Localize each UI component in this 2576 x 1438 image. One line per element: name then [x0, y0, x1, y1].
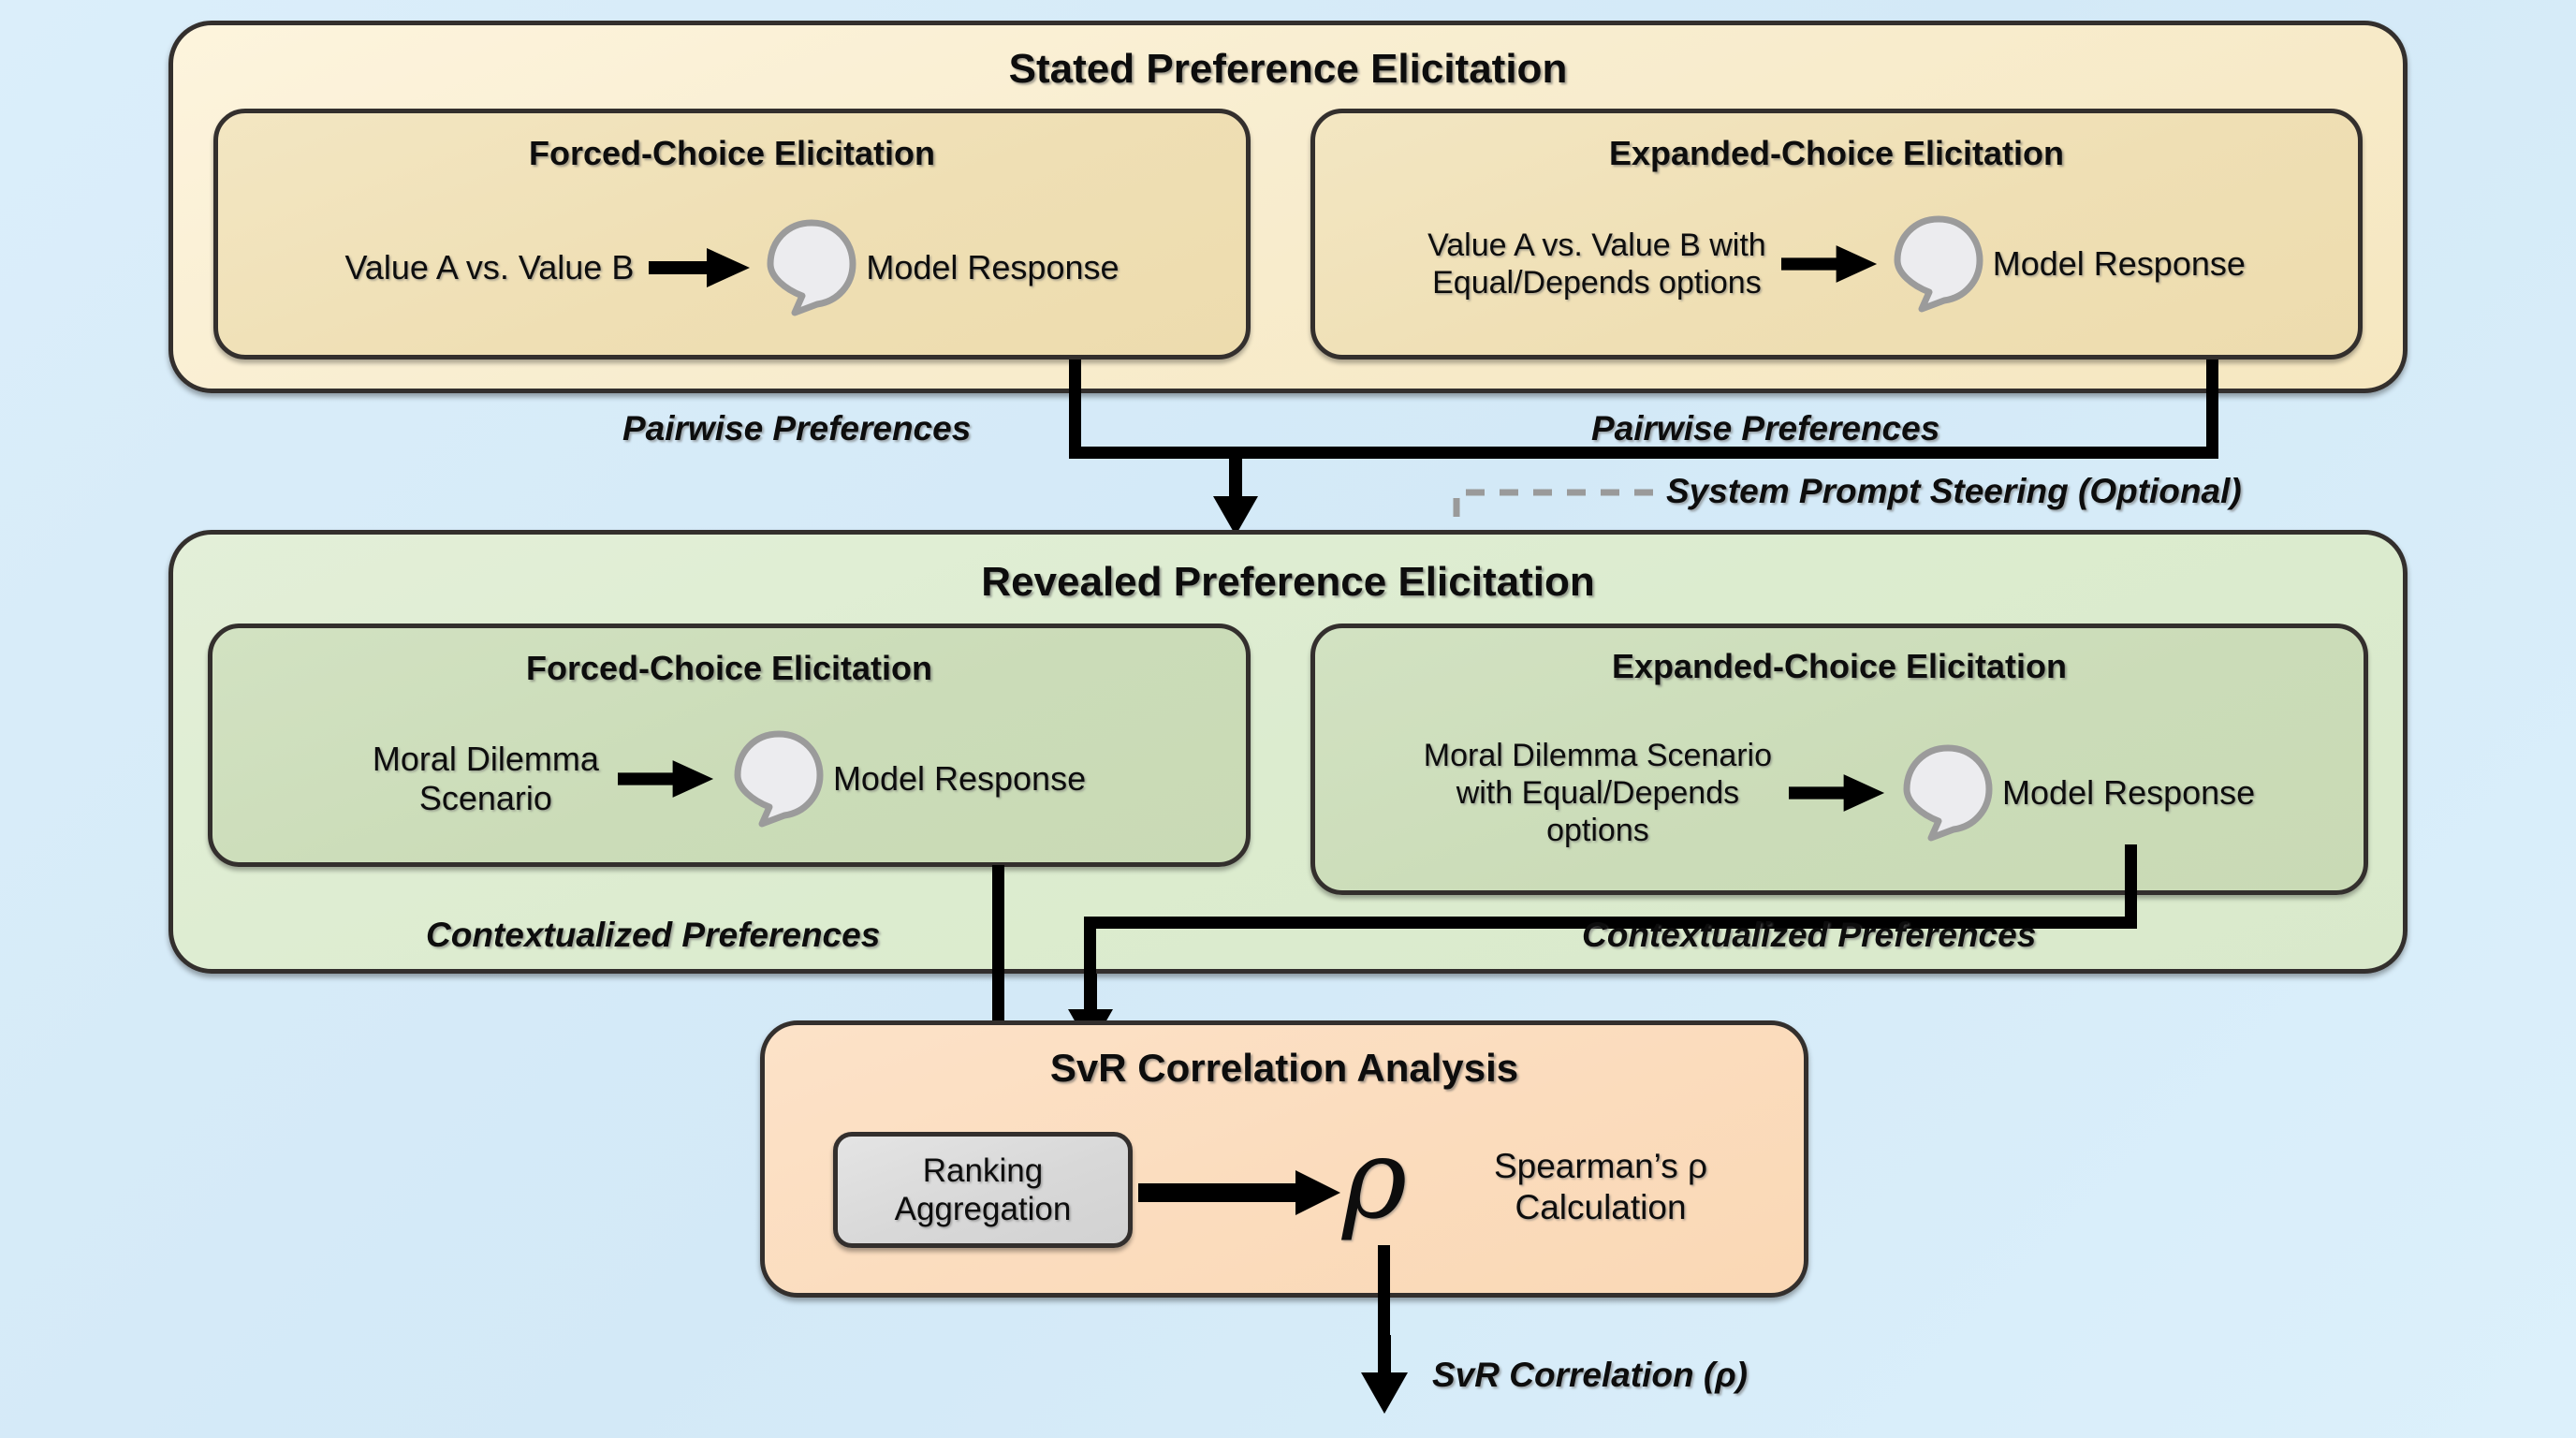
stated-expanded-input-label: Value A vs. Value B with Equal/Depends o… — [1427, 227, 1766, 301]
rho-symbol: ρ — [1342, 1123, 1407, 1234]
spearman-rho-calculation-label-wrap: Spearman’s ρ Calculation — [1432, 1146, 1769, 1227]
stated-forced-input-label: Value A vs. Value B — [344, 248, 634, 287]
speech-bubble-icon — [767, 219, 856, 316]
stated-expanded-choice-box: Expanded-Choice Elicitation Value A vs. … — [1310, 109, 2363, 359]
arrow-right-to-rho-icon — [1138, 1168, 1344, 1217]
stated-expanded-choice-title: Expanded-Choice Elicitation — [1315, 134, 2358, 173]
revealed-forced-choice-title: Forced-Choice Elicitation — [212, 649, 1246, 688]
spearman-rho-calculation-label: Spearman’s ρ Calculation — [1432, 1146, 1769, 1227]
edge-label-system-prompt-steering: System Prompt Steering (Optional) — [1666, 472, 2242, 511]
arrow-down-to-revealed-icon — [1207, 455, 1264, 537]
stated-forced-choice-title: Forced-Choice Elicitation — [218, 134, 1246, 173]
revealed-expanded-choice-box: Expanded-Choice Elicitation Moral Dilemm… — [1310, 624, 2368, 895]
arrow-right-icon — [649, 244, 752, 291]
stated-preference-title: Stated Preference Elicitation — [173, 46, 2403, 93]
svr-correlation-analysis-title: SvR Correlation Analysis — [765, 1046, 1804, 1091]
arrow-right-icon — [1789, 770, 1886, 816]
arrow-right-icon — [1781, 241, 1879, 287]
revealed-expanded-output-label: Model Response — [2002, 773, 2255, 813]
speech-bubble-icon — [1894, 215, 1983, 313]
revealed-forced-choice-box: Forced-Choice Elicitation Moral Dilemma … — [208, 624, 1251, 867]
stated-forced-output-label: Model Response — [866, 248, 1119, 287]
edge-label-svr-correlation-output: SvR Correlation (ρ) — [1432, 1356, 1748, 1395]
stated-expanded-output-label: Model Response — [1993, 244, 2246, 284]
revealed-expanded-choice-title: Expanded-Choice Elicitation — [1315, 647, 2364, 686]
ranking-aggregation-box: Ranking Aggregation — [833, 1132, 1133, 1248]
edge-label-pairwise-left: Pairwise Preferences — [622, 409, 971, 448]
edge-label-pairwise-right: Pairwise Preferences — [1591, 409, 1939, 448]
edge-label-contextualized-right: Contextualized Preferences — [1582, 916, 2036, 955]
revealed-forced-input-label: Moral Dilemma Scenario — [373, 740, 599, 819]
connector-stated-expanded-stem — [2206, 359, 2218, 459]
connector-output-stem — [1378, 1245, 1390, 1348]
connector-stated-forced-stem — [1069, 359, 1081, 459]
stated-forced-choice-box: Forced-Choice Elicitation Value A vs. Va… — [213, 109, 1251, 359]
revealed-forced-output-label: Model Response — [833, 759, 1086, 799]
arrow-down-output-icon — [1355, 1335, 1413, 1416]
edge-label-contextualized-left: Contextualized Preferences — [426, 916, 880, 955]
speech-bubble-icon — [1903, 744, 1993, 842]
speech-bubble-icon — [734, 730, 824, 828]
revealed-preference-title: Revealed Preference Elicitation — [173, 559, 2403, 606]
arrow-right-icon — [618, 756, 715, 802]
revealed-expanded-input-label: Moral Dilemma Scenario with Equal/Depend… — [1424, 737, 1772, 849]
diagram-canvas: Stated Preference Elicitation Forced-Cho… — [0, 0, 2576, 1438]
ranking-aggregation-label: Ranking Aggregation — [895, 1152, 1072, 1229]
